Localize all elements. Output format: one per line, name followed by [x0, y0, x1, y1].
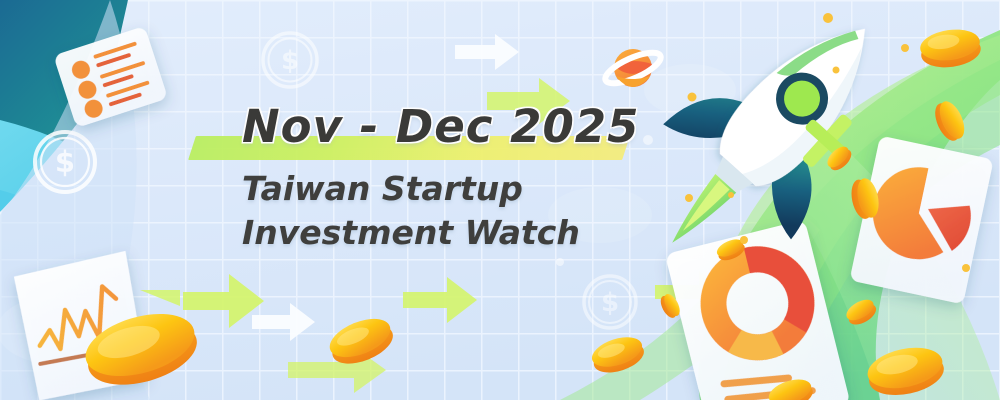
banner-subtitle: Taiwan Startup Investment Watch: [242, 167, 672, 254]
title-block: Nov - Dec 2025 Taiwan Startup Investment…: [242, 104, 672, 254]
title-text-layer: Nov - Dec 2025 Taiwan Startup Investment…: [0, 0, 1000, 400]
date-range-heading: Nov - Dec 2025: [242, 104, 672, 149]
promo-banner: $ $ $: [0, 0, 1000, 400]
